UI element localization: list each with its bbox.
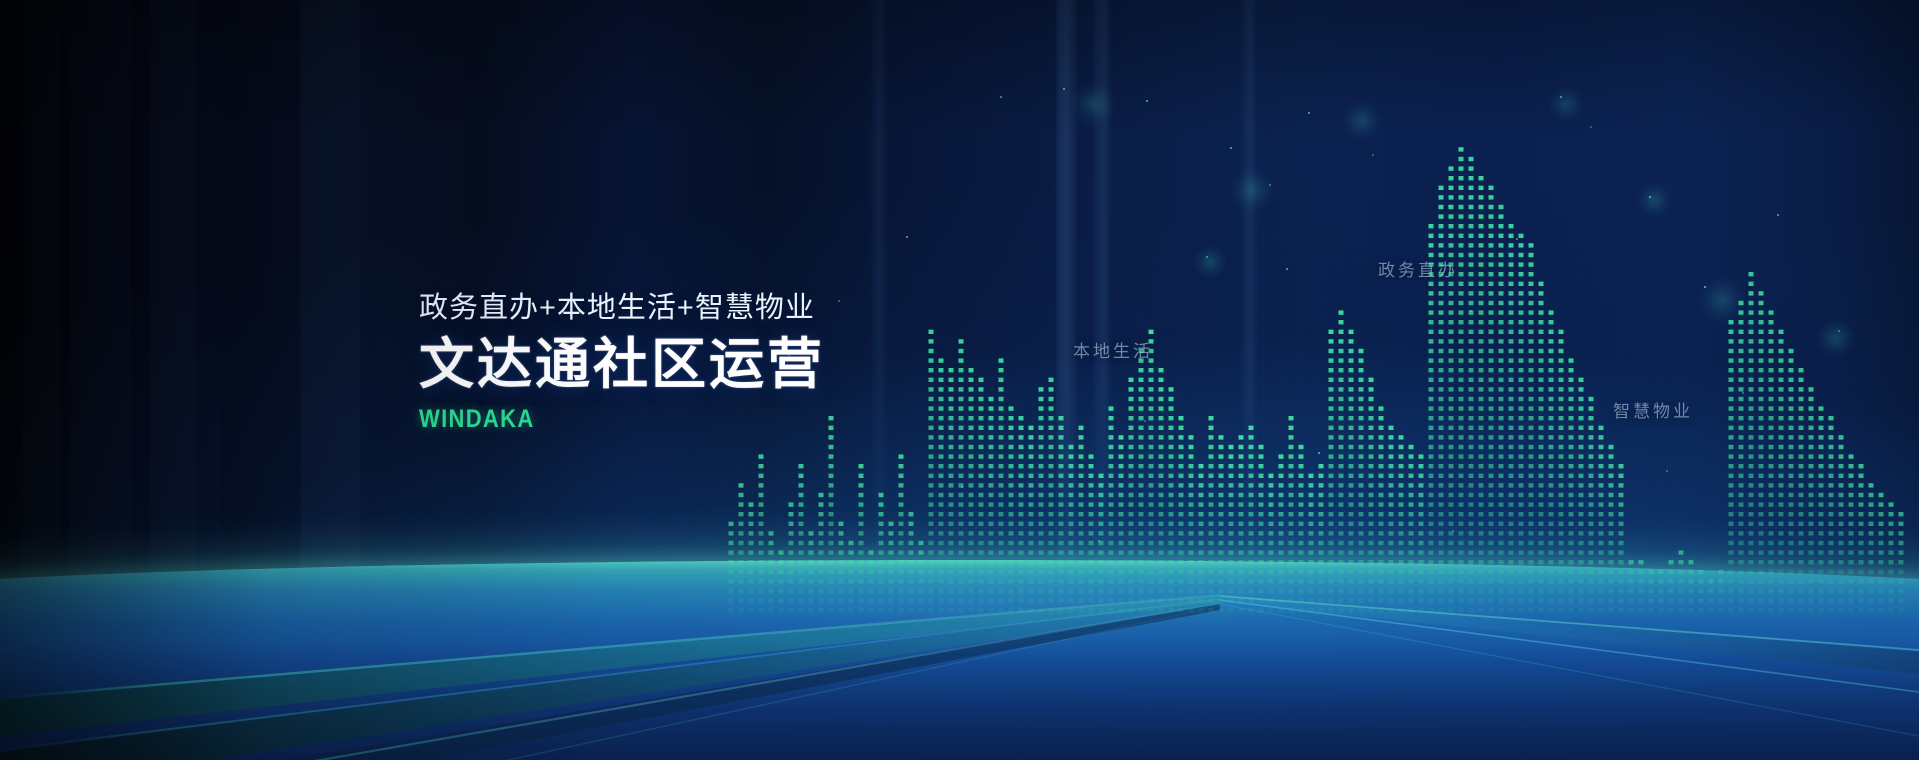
sparkle-dot (1742, 392, 1744, 394)
sparkle-dot (1516, 238, 1518, 240)
sparkle-halo (1637, 183, 1671, 217)
sparkle-dot (1470, 310, 1472, 312)
sparkle-dot (1666, 470, 1668, 472)
sparkle-dot (1452, 530, 1454, 532)
sparkle-dot (1063, 88, 1065, 90)
sparkle-halo (1342, 100, 1382, 140)
sparkle-dot (1269, 184, 1271, 186)
sparkle-dot (961, 486, 963, 488)
sparkle-dot (1146, 100, 1148, 102)
sparkle-dot (1318, 452, 1320, 454)
sparkle-dot (1590, 126, 1592, 128)
sparkle-dot (1777, 214, 1779, 216)
sparkle-halo (1193, 245, 1227, 279)
sparkle-dot (906, 236, 908, 238)
sparkle-halo (1548, 86, 1584, 122)
float-label-government: 政务直办 (1378, 256, 1458, 281)
banner-stage: 政务直办 本地生活 智慧物业 政务直办+本地生活+智慧物业 文达通社区运营 WI… (0, 0, 1919, 760)
sparkle-dot (1372, 154, 1374, 156)
sparkle-halo (1699, 277, 1745, 323)
sparkle-dot (1448, 205, 1450, 207)
headline-copy-block: 政务直办+本地生活+智慧物业 文达通社区运营 WINDAKA (419, 290, 1159, 434)
sparkle-dot (1230, 147, 1232, 149)
brand-wordmark: WINDAKA (419, 405, 1070, 434)
sparkle-dot (1560, 96, 1562, 98)
banner-subtitle: 政务直办+本地生活+智慧物业 (419, 290, 1159, 326)
sparkle-dot (1286, 268, 1288, 270)
sparkle-dot (1838, 330, 1840, 332)
sparkle-dot (1308, 112, 1310, 114)
float-label-smart-property: 智慧物业 (1613, 397, 1693, 422)
sparkle-halo (1816, 318, 1856, 358)
sparkle-dot (1206, 256, 1208, 258)
sparkle-halo (1071, 81, 1117, 127)
sparkle-halo (1230, 168, 1274, 212)
banner-headline: 文达通社区运营 (419, 334, 1159, 396)
sparkle-dot (1098, 540, 1100, 542)
sparkle-dot (1704, 286, 1706, 288)
sparkle-dot (1000, 96, 1002, 98)
sparkle-dot (1649, 196, 1651, 198)
